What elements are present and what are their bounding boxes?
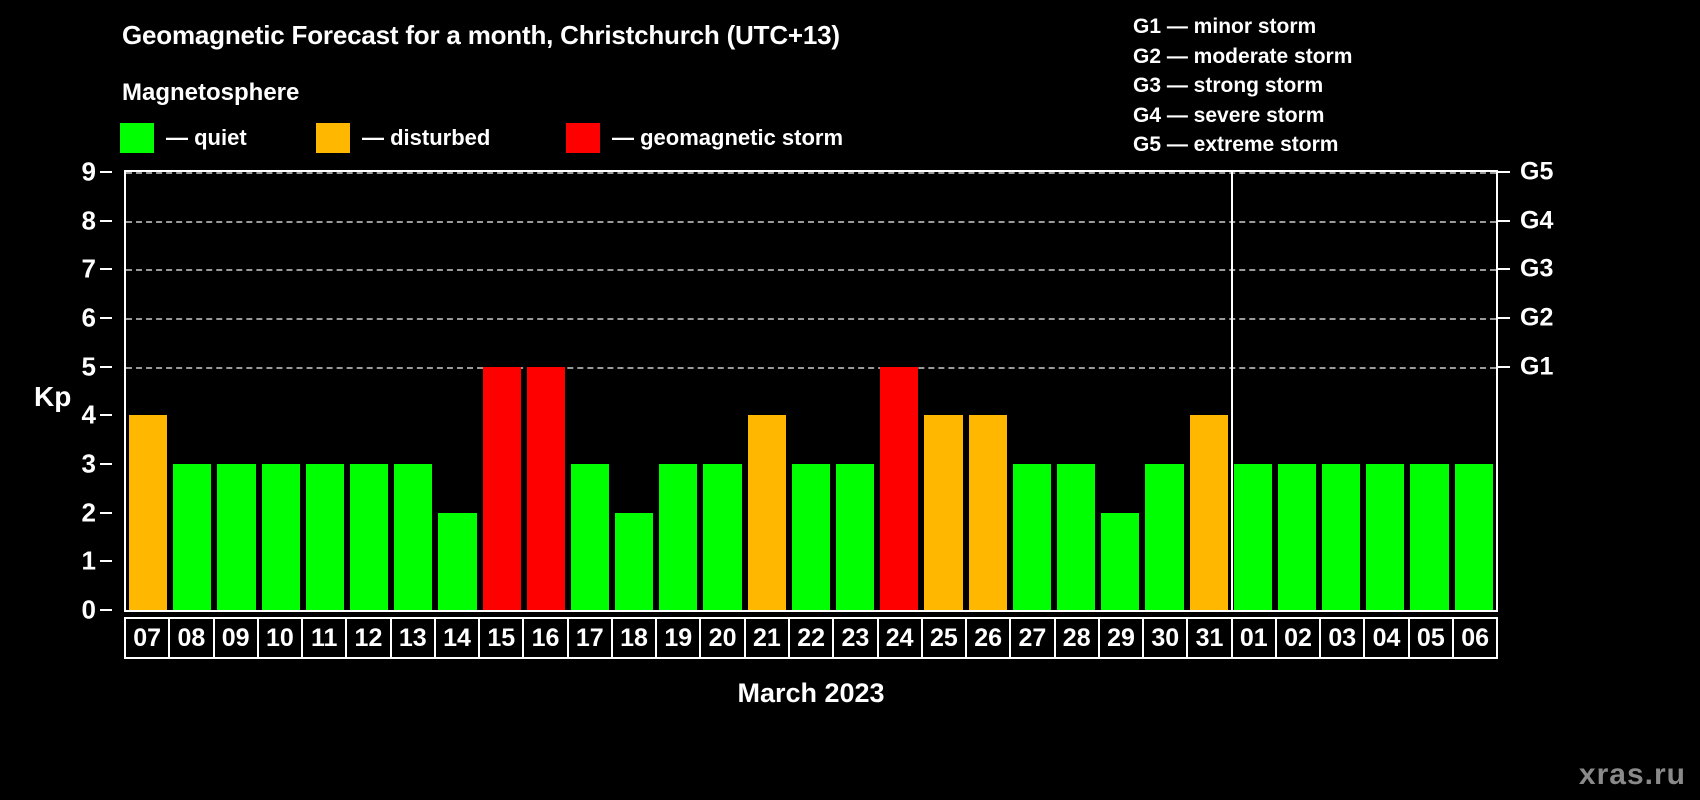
storm-scale-item-g5: G5 — extreme storm	[1133, 130, 1352, 160]
y-tick-label-0: 0	[82, 595, 96, 626]
g-tick-mark-g2	[1498, 317, 1510, 319]
bar-series	[126, 172, 1496, 610]
bar-cell-21[interactable]	[745, 172, 789, 610]
g-tick-mark-g1	[1498, 366, 1510, 368]
y-tick-label-3: 3	[82, 449, 96, 480]
y-tick-mark-8	[100, 220, 112, 222]
day-label-30[interactable]: 30	[1144, 619, 1188, 657]
day-label-04[interactable]: 04	[1365, 619, 1409, 657]
bar-01[interactable]	[1234, 464, 1272, 610]
bar-14[interactable]	[438, 513, 476, 610]
bar-08[interactable]	[173, 464, 211, 610]
bar-22[interactable]	[792, 464, 830, 610]
chart-page: Geomagnetic Forecast for a month, Christ…	[0, 0, 1700, 800]
bar-23[interactable]	[836, 464, 874, 610]
bar-03[interactable]	[1322, 464, 1360, 610]
bar-cell-28[interactable]	[1054, 172, 1098, 610]
g-axis-label-g3: G3	[1520, 255, 1553, 284]
y-tick-mark-7	[100, 268, 112, 270]
y-tick-mark-6	[100, 317, 112, 319]
g-tick-mark-g3	[1498, 268, 1510, 270]
bar-29[interactable]	[1101, 513, 1139, 610]
y-tick-label-2: 2	[82, 497, 96, 528]
storm-scale-item-g4: G4 — severe storm	[1133, 101, 1352, 131]
bar-cell-04[interactable]	[1363, 172, 1407, 610]
bar-cell-27[interactable]	[1010, 172, 1054, 610]
bar-07[interactable]	[129, 415, 167, 610]
y-tick-mark-2	[100, 512, 112, 514]
bar-09[interactable]	[217, 464, 255, 610]
legend-swatch-disturbed	[316, 123, 350, 153]
bar-16[interactable]	[527, 367, 565, 610]
day-label-27[interactable]: 27	[1011, 619, 1055, 657]
bar-20[interactable]	[703, 464, 741, 610]
bar-21[interactable]	[748, 415, 786, 610]
bar-06[interactable]	[1455, 464, 1493, 610]
day-label-21[interactable]: 21	[746, 619, 790, 657]
bar-cell-01[interactable]	[1231, 172, 1275, 610]
legend-label-quiet: — quiet	[166, 125, 247, 151]
storm-scale-item-g2: G2 — moderate storm	[1133, 42, 1352, 72]
bar-cell-29[interactable]	[1098, 172, 1142, 610]
bar-cell-26[interactable]	[966, 172, 1010, 610]
bar-cell-08[interactable]	[170, 172, 214, 610]
g-axis-label-g5: G5	[1520, 158, 1553, 187]
storm-scale-legend: G1 — minor storm G2 — moderate storm G3 …	[1133, 12, 1352, 160]
day-label-09[interactable]: 09	[215, 619, 259, 657]
legend-item-quiet: — quiet	[120, 122, 247, 154]
g-axis-label-g4: G4	[1520, 206, 1553, 235]
x-axis-caption: March 2023	[124, 678, 1498, 709]
bar-cell-25[interactable]	[921, 172, 965, 610]
day-label-23[interactable]: 23	[834, 619, 878, 657]
legend-swatch-quiet	[120, 123, 154, 153]
bar-13[interactable]	[394, 464, 432, 610]
bar-cell-30[interactable]	[1142, 172, 1186, 610]
bar-10[interactable]	[262, 464, 300, 610]
legend-label-disturbed: — disturbed	[362, 125, 490, 151]
day-label-16[interactable]: 16	[524, 619, 568, 657]
bar-cell-18[interactable]	[612, 172, 656, 610]
bar-cell-12[interactable]	[347, 172, 391, 610]
day-label-17[interactable]: 17	[569, 619, 613, 657]
plot-area	[124, 170, 1498, 612]
day-label-07[interactable]: 07	[126, 619, 170, 657]
bar-cell-23[interactable]	[833, 172, 877, 610]
day-label-31[interactable]: 31	[1188, 619, 1232, 657]
legend-swatch-storm	[566, 123, 600, 153]
bar-19[interactable]	[659, 464, 697, 610]
y-tick-mark-3	[100, 463, 112, 465]
bar-cell-24[interactable]	[877, 172, 921, 610]
y-tick-label-5: 5	[82, 351, 96, 382]
bar-cell-19[interactable]	[656, 172, 700, 610]
x-axis-days: 0708091011121314151617181920212223242526…	[124, 617, 1498, 659]
y-tick-mark-1	[100, 560, 112, 562]
bar-12[interactable]	[350, 464, 388, 610]
day-label-24[interactable]: 24	[879, 619, 923, 657]
bar-11[interactable]	[306, 464, 344, 610]
bar-28[interactable]	[1057, 464, 1095, 610]
bar-cell-14[interactable]	[435, 172, 479, 610]
bar-cell-06[interactable]	[1452, 172, 1496, 610]
day-label-14[interactable]: 14	[436, 619, 480, 657]
day-label-25[interactable]: 25	[923, 619, 967, 657]
bar-27[interactable]	[1013, 464, 1051, 610]
y-tick-mark-4	[100, 414, 112, 416]
day-label-13[interactable]: 13	[392, 619, 436, 657]
bar-17[interactable]	[571, 464, 609, 610]
day-label-01[interactable]: 01	[1233, 619, 1277, 657]
day-label-11[interactable]: 11	[303, 619, 347, 657]
bar-cell-16[interactable]	[524, 172, 568, 610]
bar-cell-09[interactable]	[214, 172, 258, 610]
day-label-19[interactable]: 19	[657, 619, 701, 657]
legend-title: Magnetosphere	[122, 79, 299, 107]
bar-24[interactable]	[880, 367, 918, 610]
page-title: Geomagnetic Forecast for a month, Christ…	[122, 20, 840, 51]
bar-31[interactable]	[1190, 415, 1228, 610]
bar-18[interactable]	[615, 513, 653, 610]
day-label-02[interactable]: 02	[1277, 619, 1321, 657]
y-tick-label-9: 9	[82, 157, 96, 188]
bar-cell-20[interactable]	[700, 172, 744, 610]
day-label-12[interactable]: 12	[347, 619, 391, 657]
g-tick-mark-g5	[1498, 171, 1510, 173]
y-tick-label-8: 8	[82, 205, 96, 236]
day-label-05[interactable]: 05	[1410, 619, 1454, 657]
bar-02[interactable]	[1278, 464, 1316, 610]
watermark: xras.ru	[1579, 758, 1686, 792]
bar-cell-31[interactable]	[1187, 172, 1231, 610]
storm-scale-item-g1: G1 — minor storm	[1133, 12, 1352, 42]
g-axis-label-g2: G2	[1520, 304, 1553, 333]
g-scale-axis: G1G2G3G4G5	[1498, 170, 1608, 612]
day-label-18[interactable]: 18	[613, 619, 657, 657]
y-tick-mark-0	[100, 609, 112, 611]
day-label-26[interactable]: 26	[967, 619, 1011, 657]
bar-cell-05[interactable]	[1407, 172, 1451, 610]
g-tick-mark-g4	[1498, 220, 1510, 222]
y-tick-mark-5	[100, 366, 112, 368]
y-tick-mark-9	[100, 171, 112, 173]
day-label-28[interactable]: 28	[1056, 619, 1100, 657]
month-boundary-divider	[1231, 172, 1233, 610]
y-tick-label-6: 6	[82, 303, 96, 334]
day-label-20[interactable]: 20	[701, 619, 745, 657]
day-label-15[interactable]: 15	[480, 619, 524, 657]
bar-cell-07[interactable]	[126, 172, 170, 610]
y-tick-label-4: 4	[82, 400, 96, 431]
bar-cell-17[interactable]	[568, 172, 612, 610]
legend-item-storm: — geomagnetic storm	[566, 122, 843, 154]
bar-cell-10[interactable]	[259, 172, 303, 610]
day-label-29[interactable]: 29	[1100, 619, 1144, 657]
bar-cell-15[interactable]	[480, 172, 524, 610]
day-label-03[interactable]: 03	[1321, 619, 1365, 657]
bar-25[interactable]	[924, 415, 962, 610]
bar-05[interactable]	[1410, 464, 1448, 610]
y-axis-title: Kp	[34, 381, 71, 413]
bar-15[interactable]	[483, 367, 521, 610]
bar-cell-11[interactable]	[303, 172, 347, 610]
g-axis-label-g1: G1	[1520, 352, 1553, 381]
y-tick-label-1: 1	[82, 546, 96, 577]
bar-cell-22[interactable]	[789, 172, 833, 610]
legend-item-disturbed: — disturbed	[316, 122, 490, 154]
bar-04[interactable]	[1366, 464, 1404, 610]
bar-cell-13[interactable]	[391, 172, 435, 610]
bar-30[interactable]	[1145, 464, 1183, 610]
day-label-06[interactable]: 06	[1454, 619, 1496, 657]
day-label-10[interactable]: 10	[259, 619, 303, 657]
storm-scale-item-g3: G3 — strong storm	[1133, 71, 1352, 101]
bar-26[interactable]	[969, 415, 1007, 610]
day-label-08[interactable]: 08	[170, 619, 214, 657]
legend-label-storm: — geomagnetic storm	[612, 125, 843, 151]
day-label-22[interactable]: 22	[790, 619, 834, 657]
y-tick-label-7: 7	[82, 254, 96, 285]
bar-cell-02[interactable]	[1275, 172, 1319, 610]
bar-cell-03[interactable]	[1319, 172, 1363, 610]
